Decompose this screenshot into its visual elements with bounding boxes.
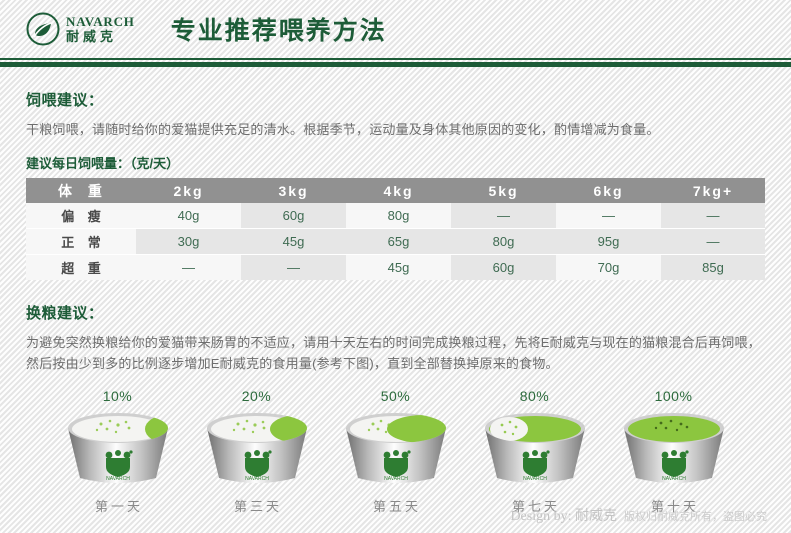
table-row: 正 常 30g 45g 65g 80g 95g —	[26, 229, 765, 255]
page-content: 饲喂建议： 干粮饲喂，请随时给你的爱猫提供充足的清水。根据季节，运动量及身体其他…	[0, 89, 791, 515]
cell-normal-3kg: 45g	[241, 229, 346, 255]
cell-overweight-3kg: —	[241, 255, 346, 281]
cell-thin-2kg: 40g	[136, 203, 241, 229]
bowl-percent-day1: 10%	[48, 388, 187, 404]
brand-logo-text: NAVARCH 耐威克	[66, 15, 135, 43]
cell-thin-4kg: 80g	[346, 203, 451, 229]
navarch-leaf-logo-icon	[26, 12, 60, 46]
bowl-day-label-day1: 第一天	[48, 496, 187, 515]
bowl-crest-logo-icon: NAVARCH	[244, 450, 271, 482]
cell-normal-2kg: 30g	[136, 229, 241, 255]
daily-feeding-table: 体 重 2kg 3kg 4kg 5kg 6kg 7kg+ 偏 瘦 40g 60g…	[26, 178, 765, 280]
feed-table-header-3kg: 3kg	[241, 178, 346, 203]
feed-table-body: 偏 瘦 40g 60g 80g — — — 正 常 30g 45g 65g 80…	[26, 203, 765, 280]
table-row: 超 重 — — 45g 60g 70g 85g	[26, 255, 765, 281]
footer-copyright: 版权归耐威克所有，盗图必究	[624, 508, 767, 524]
row-label-normal: 正 常	[26, 229, 136, 255]
bowl-crest-logo-icon: NAVARCH	[383, 450, 410, 482]
cell-overweight-6kg: 70g	[556, 255, 661, 281]
dog-bowl-icon-day7: NAVARCH	[472, 408, 598, 490]
feed-table-header-7kg: 7kg+	[661, 178, 765, 203]
feed-table-header-2kg: 2kg	[136, 178, 241, 203]
page-footer: Design by: 耐威克 版权归耐威克所有，盗图必究	[510, 505, 767, 525]
dog-bowl-icon-day5: NAVARCH	[333, 408, 459, 490]
svg-text:NAVARCH: NAVARCH	[245, 476, 269, 482]
bowl-percent-day5: 50%	[326, 388, 465, 404]
feed-table-head: 体 重 2kg 3kg 4kg 5kg 6kg 7kg+	[26, 178, 765, 203]
bowl-day-label-day5: 第五天	[326, 496, 465, 515]
feed-table-header-6kg: 6kg	[556, 178, 661, 203]
cell-normal-6kg: 95g	[556, 229, 661, 255]
cell-normal-5kg: 80g	[451, 229, 556, 255]
cell-thin-7kg: —	[661, 203, 765, 229]
row-label-thin: 偏 瘦	[26, 203, 136, 229]
feed-table-header-5kg: 5kg	[451, 178, 556, 203]
cell-thin-3kg: 60g	[241, 203, 346, 229]
brand-name-en: NAVARCH	[66, 15, 135, 28]
row-label-overweight: 超 重	[26, 255, 136, 281]
brand-logo: NAVARCH 耐威克	[26, 12, 149, 46]
header-divider-thick	[0, 62, 791, 67]
feed-table-caption: 建议每日饲喂量：（克/天）	[26, 153, 765, 172]
cell-overweight-5kg: 60g	[451, 255, 556, 281]
bowl-item-day10: 100%	[604, 388, 743, 515]
transition-section-body: 为避免突然换粮给你的爱猫带来肠胃的不适应，请用十天左右的时间完成换粮过程，先将E…	[26, 332, 765, 374]
bowl-day-label-day3: 第三天	[187, 496, 326, 515]
dog-bowl-icon-day1: NAVARCH	[55, 408, 181, 490]
bowl-crest-logo-icon: NAVARCH	[105, 450, 132, 482]
bowl-percent-day7: 80%	[465, 388, 604, 404]
page-header: NAVARCH 耐威克 专业推荐喂养方法	[0, 0, 791, 58]
bowl-item-day1: 10%	[48, 388, 187, 515]
cell-normal-7kg: —	[661, 229, 765, 255]
transition-bowl-chart: 10%	[26, 388, 765, 515]
cell-thin-5kg: —	[451, 203, 556, 229]
dog-bowl-icon-day3: NAVARCH	[194, 408, 320, 490]
footer-design-by: Design by: 耐威克	[510, 505, 617, 525]
svg-text:NAVARCH: NAVARCH	[523, 476, 547, 482]
feeding-section-title: 饲喂建议：	[26, 89, 765, 110]
bowl-crest-logo-icon: NAVARCH	[661, 450, 688, 482]
bowl-percent-day3: 20%	[187, 388, 326, 404]
cell-overweight-2kg: —	[136, 255, 241, 281]
bowl-percent-day10: 100%	[604, 388, 743, 404]
cell-thin-6kg: —	[556, 203, 661, 229]
bowl-item-day3: 20%	[187, 388, 326, 515]
cell-overweight-4kg: 45g	[346, 255, 451, 281]
table-row: 偏 瘦 40g 60g 80g — — —	[26, 203, 765, 229]
feed-table-header-4kg: 4kg	[346, 178, 451, 203]
svg-text:NAVARCH: NAVARCH	[384, 476, 408, 482]
cell-overweight-7kg: 85g	[661, 255, 765, 281]
transition-section-title: 换粮建议：	[26, 302, 765, 323]
bowl-item-day5: 50%	[326, 388, 465, 515]
bowl-item-day7: 80%	[465, 388, 604, 515]
bowl-crest-logo-icon: NAVARCH	[522, 450, 549, 482]
svg-text:NAVARCH: NAVARCH	[106, 476, 130, 482]
svg-text:NAVARCH: NAVARCH	[662, 476, 686, 482]
page-title: 专业推荐喂养方法	[171, 11, 387, 47]
feeding-section-body: 干粮饲喂，请随时给你的爱猫提供充足的清水。根据季节，运动量及身体其他原因的变化，…	[26, 119, 765, 140]
feed-table-header-weight: 体 重	[26, 178, 136, 203]
brand-name-cn: 耐威克	[66, 30, 135, 43]
cell-normal-4kg: 65g	[346, 229, 451, 255]
dog-bowl-icon-day10: NAVARCH	[611, 408, 737, 490]
feed-table-header-row: 体 重 2kg 3kg 4kg 5kg 6kg 7kg+	[26, 178, 765, 203]
